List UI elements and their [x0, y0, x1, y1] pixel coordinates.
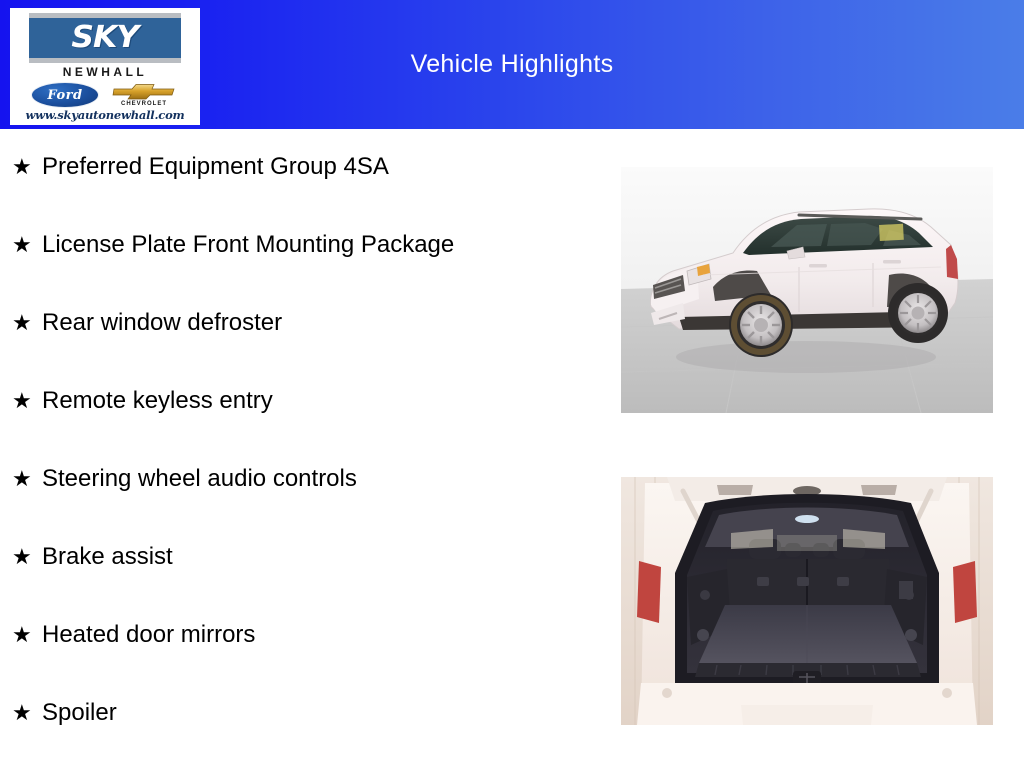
list-item: ★ Spoiler [0, 701, 610, 779]
feature-label: Brake assist [42, 545, 173, 569]
ford-logo-label: Ford [47, 89, 82, 102]
star-bullet-icon: ★ [12, 312, 42, 334]
vehicle-highlights-list: ★ Preferred Equipment Group 4SA ★ Licens… [0, 129, 610, 779]
dealer-logo-inner: SKY NEWHALL Ford [21, 13, 189, 122]
dealer-logo[interactable]: SKY NEWHALL Ford [10, 8, 200, 125]
list-item: ★ License Plate Front Mounting Package [0, 233, 610, 311]
star-bullet-icon: ★ [12, 390, 42, 412]
feature-label: Preferred Equipment Group 4SA [42, 155, 389, 179]
feature-label: Rear window defroster [42, 311, 282, 335]
star-bullet-icon: ★ [12, 234, 42, 256]
feature-label: Remote keyless entry [42, 389, 273, 413]
star-bullet-icon: ★ [12, 546, 42, 568]
list-item: ★ Brake assist [0, 545, 610, 623]
list-item: ★ Rear window defroster [0, 311, 610, 389]
star-bullet-icon: ★ [12, 624, 42, 646]
vehicle-photo-exterior[interactable] [621, 167, 993, 413]
list-item: ★ Heated door mirrors [0, 623, 610, 701]
star-bullet-icon: ★ [12, 702, 42, 724]
sky-brand-plate: SKY [29, 13, 181, 63]
list-item: ★ Steering wheel audio controls [0, 467, 610, 545]
feature-label: License Plate Front Mounting Package [42, 233, 454, 257]
dealer-location-label: NEWHALL [63, 66, 148, 78]
dealer-website-label: www.skyautonewhall.com [25, 110, 184, 122]
franchise-brand-row: Ford CHEVROLET [21, 82, 189, 108]
ford-logo-icon: Ford [31, 82, 99, 108]
feature-label: Spoiler [42, 701, 117, 725]
chevrolet-logo-icon: CHEVROLET [109, 83, 179, 107]
star-bullet-icon: ★ [12, 468, 42, 490]
sky-brand-label: SKY [72, 23, 139, 53]
list-item: ★ Remote keyless entry [0, 389, 610, 467]
chevrolet-logo-label: CHEVROLET [121, 101, 167, 107]
feature-label: Heated door mirrors [42, 623, 255, 647]
vehicle-photo-cargo-area[interactable] [621, 477, 993, 725]
feature-label: Steering wheel audio controls [42, 467, 357, 491]
chevrolet-bowtie-icon [112, 83, 176, 100]
list-item: ★ Preferred Equipment Group 4SA [0, 155, 610, 233]
star-bullet-icon: ★ [12, 156, 42, 178]
